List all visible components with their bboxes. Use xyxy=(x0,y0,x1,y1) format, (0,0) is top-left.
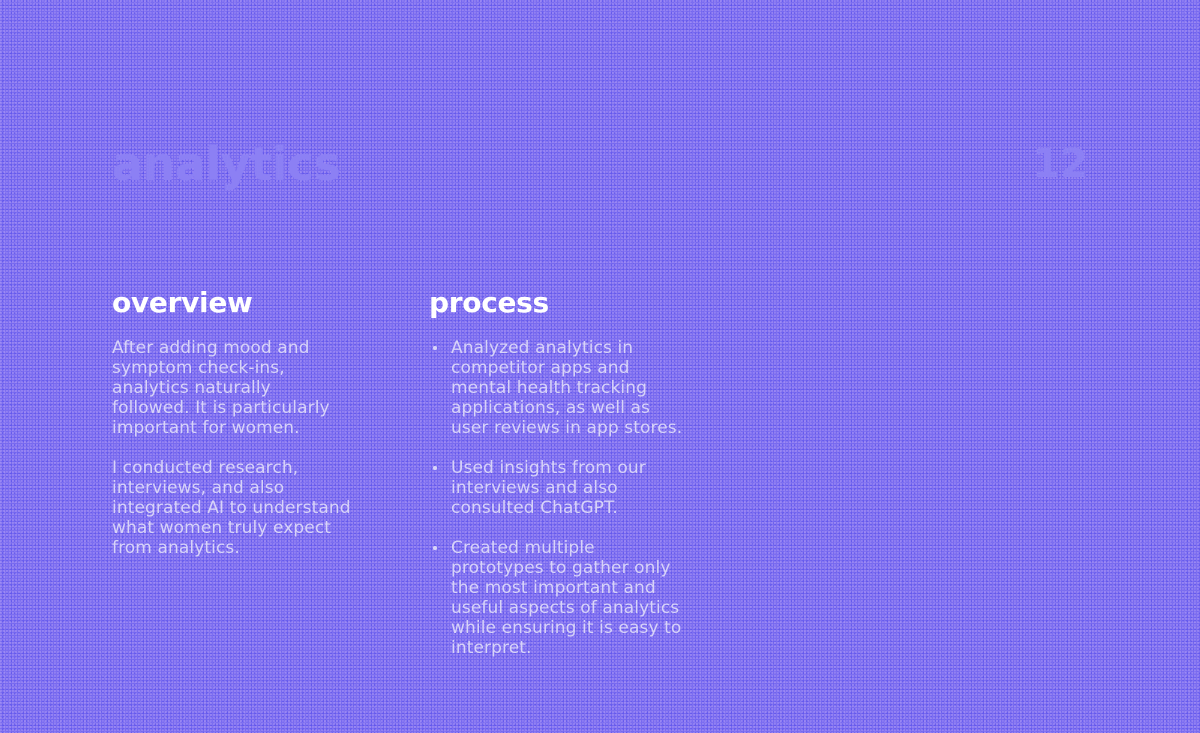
column-process: process Analyzed analytics in competitor… xyxy=(429,286,689,658)
process-bullet-list: Analyzed analytics in competitor apps an… xyxy=(429,338,689,658)
content-columns: overview After adding mood and symptom c… xyxy=(112,286,712,658)
bullet-dot-icon xyxy=(433,546,437,550)
list-item: Analyzed analytics in competitor apps an… xyxy=(429,338,689,438)
list-item-text: Created multiple prototypes to gather on… xyxy=(451,538,681,658)
list-item-text: Analyzed analytics in competitor apps an… xyxy=(451,338,682,438)
overview-paragraph-2: I conducted research, interviews, and al… xyxy=(112,458,352,558)
slide-canvas: analytics 12 overview After adding mood … xyxy=(0,0,1200,733)
list-item: Created multiple prototypes to gather on… xyxy=(429,538,689,658)
column-heading-process: process xyxy=(429,286,689,320)
list-item: Used insights from our interviews and al… xyxy=(429,458,689,518)
column-overview: overview After adding mood and symptom c… xyxy=(112,286,429,558)
slide-title: analytics xyxy=(112,136,341,192)
bullet-dot-icon xyxy=(433,466,437,470)
column-heading-overview: overview xyxy=(112,286,429,320)
overview-paragraph-1: After adding mood and symptom check-ins,… xyxy=(112,338,352,438)
page-number: 12 xyxy=(1032,136,1088,192)
list-item-text: Used insights from our interviews and al… xyxy=(451,458,646,518)
bullet-dot-icon xyxy=(433,346,437,350)
